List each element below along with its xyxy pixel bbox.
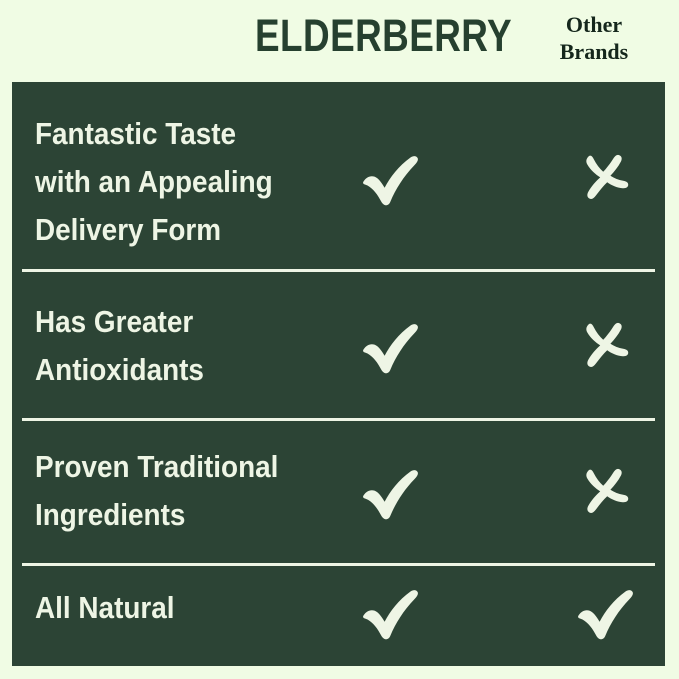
table-row: Fantastic Taste with an Appealing Delive… (12, 82, 665, 269)
cross-icon (560, 300, 650, 390)
row-label-line: Proven Traditional (35, 443, 305, 491)
competitor-title-line-1: Other (521, 11, 667, 38)
row-label-line: Antioxidants (35, 346, 305, 394)
row-label-line: with an Appealing (35, 158, 305, 206)
competitor-title-line-2: Brands (521, 38, 667, 65)
check-icon (345, 300, 435, 390)
chart-header: ELDERBERRY Other Brands (0, 0, 679, 82)
row-label: Has Greater Antioxidants (35, 298, 305, 394)
row-label: Fantastic Taste with an Appealing Delive… (35, 110, 305, 254)
table-row: Proven Traditional Ingredients (12, 421, 665, 563)
row-label-line: All Natural (35, 584, 305, 632)
check-icon (345, 566, 435, 656)
table-row: All Natural (12, 566, 665, 666)
brand-title: ELDERBERRY (102, 10, 512, 62)
comparison-chart: ELDERBERRY Other Brands Fantastic Taste … (0, 0, 679, 679)
row-label-line: Ingredients (35, 491, 305, 539)
table-row: Has Greater Antioxidants (12, 272, 665, 418)
row-label: All Natural (35, 584, 305, 632)
cross-icon (560, 132, 650, 222)
row-label-line: Delivery Form (35, 206, 305, 254)
row-label-line: Has Greater (35, 298, 305, 346)
row-label-line: Fantastic Taste (35, 110, 305, 158)
check-icon (345, 446, 435, 536)
cross-icon (560, 446, 650, 536)
row-label: Proven Traditional Ingredients (35, 443, 305, 539)
check-icon (560, 566, 650, 656)
competitor-column-title: Other Brands (521, 11, 667, 65)
check-icon (345, 132, 435, 222)
comparison-panel: Fantastic Taste with an Appealing Delive… (12, 82, 665, 666)
